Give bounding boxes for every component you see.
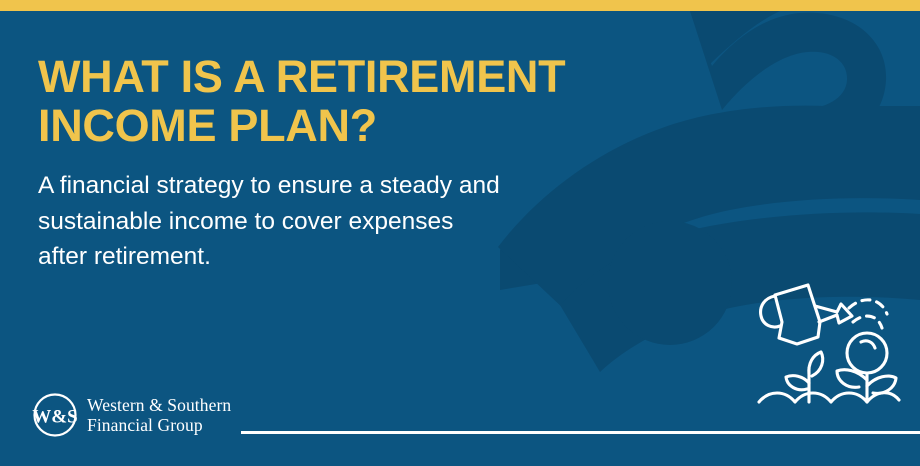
page-title: What is a Retirement Income Plan? — [38, 52, 658, 150]
accent-top-bar — [0, 0, 920, 11]
promo-banner: What is a Retirement Income Plan? A fina… — [0, 0, 920, 466]
ground-line-icon — [759, 393, 899, 402]
brand-logo[interactable]: W&S Western & Southern Financial Group — [32, 392, 231, 438]
page-subtitle: A financial strategy to ensure a steady … — [38, 168, 578, 275]
water-spray-arcs-icon — [849, 300, 887, 328]
brand-wordmark: Western & Southern Financial Group — [87, 395, 231, 436]
watering-can-icon — [761, 285, 852, 344]
ws-monogram-icon: W&S — [32, 392, 78, 438]
svg-text:W&S: W&S — [32, 407, 77, 428]
footer-divider — [241, 431, 920, 434]
watering-can-and-flower-illustration — [757, 276, 901, 410]
